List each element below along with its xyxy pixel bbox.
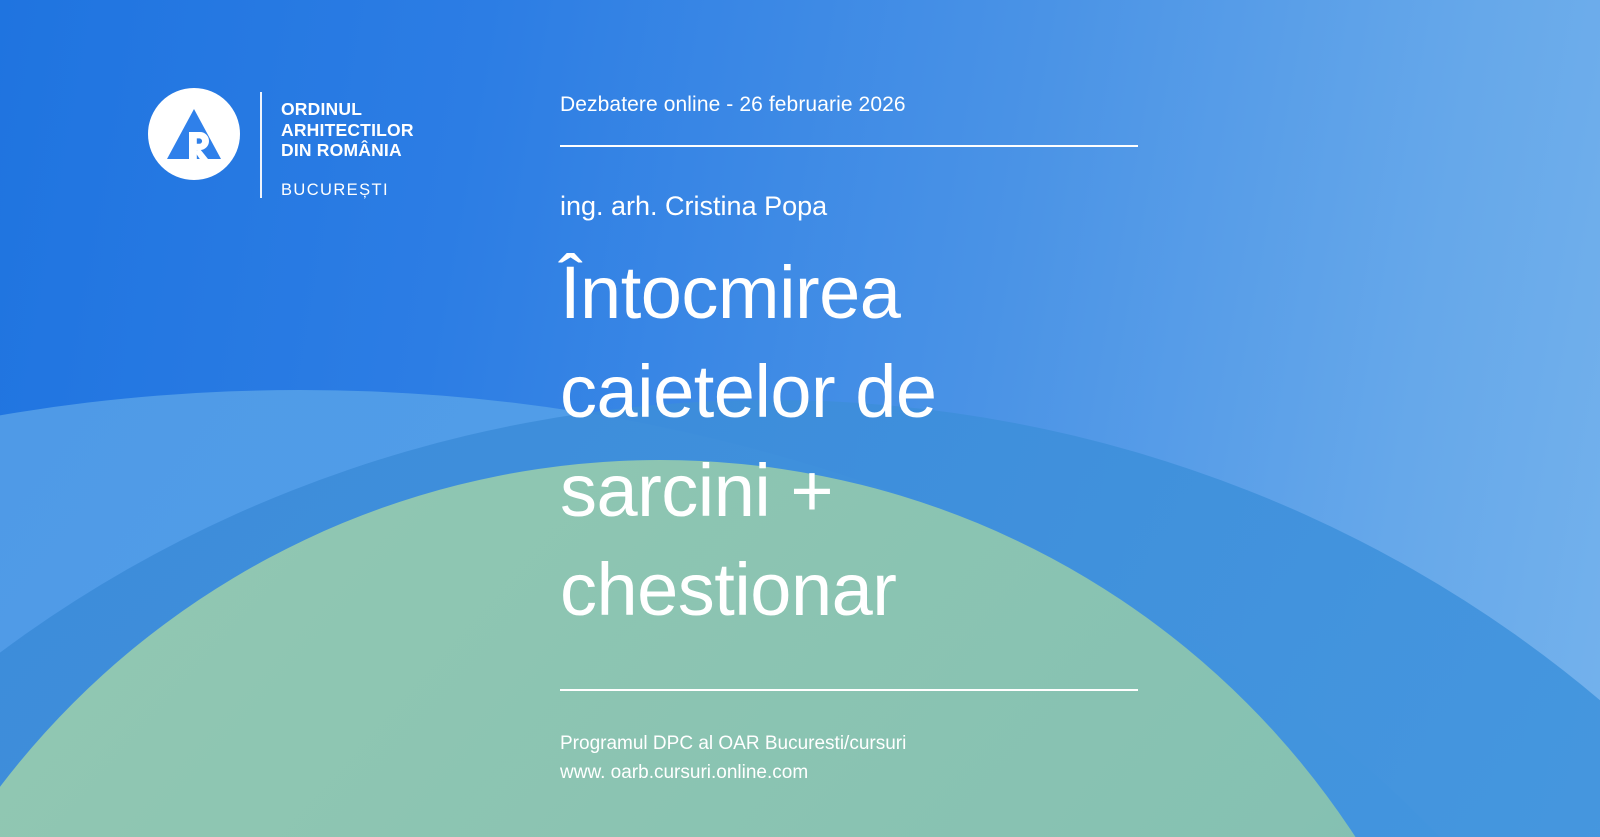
speaker-name: ing. arh. Cristina Popa: [560, 189, 1138, 223]
event-eyebrow: Dezbatere online - 26 februarie 2026: [560, 90, 1138, 120]
oar-logo-lockup: ORDINUL ARHITECTILOR DIN ROMÂNIA BUCUREȘ…: [148, 88, 414, 200]
divider-bottom: [560, 689, 1138, 691]
logo-subtitle-text: BUCUREȘTI: [281, 181, 414, 200]
slide-content: Dezbatere online - 26 februarie 2026 ing…: [560, 90, 1138, 787]
divider-top: [560, 145, 1138, 147]
oar-monogram-icon: [148, 88, 240, 180]
program-footer: Programul DPC al OAR Bucuresti/cursuri w…: [560, 729, 1138, 787]
logo-vertical-divider: [260, 92, 262, 198]
presentation-title-slide: ORDINUL ARHITECTILOR DIN ROMÂNIA BUCUREȘ…: [0, 0, 1600, 837]
page-title: Întocmirea caietelor de sarcini + chesti…: [560, 243, 1138, 639]
logo-wordmark: ORDINUL ARHITECTILOR DIN ROMÂNIA BUCUREȘ…: [281, 88, 414, 200]
logo-title-text: ORDINUL ARHITECTILOR DIN ROMÂNIA: [281, 99, 414, 161]
